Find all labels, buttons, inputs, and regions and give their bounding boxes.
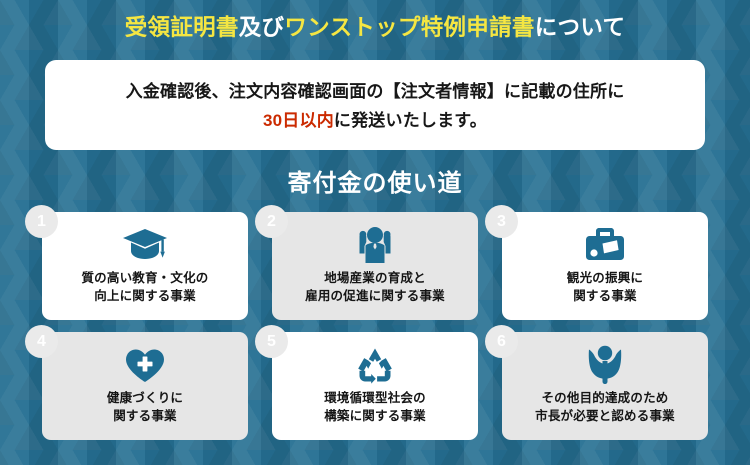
card-label-line-2: 市長が必要と認める事業 [535, 408, 675, 426]
page-title: 受領証明書及びワンストップ特例申請書について [0, 13, 750, 43]
recycle-icon [354, 344, 396, 386]
card-number-badge: 6 [485, 325, 518, 358]
graduation-cap-icon [122, 224, 168, 266]
card-label-line-2: 関する事業 [107, 408, 183, 426]
card-label: 環境循環型社会の 構築に関する事業 [324, 390, 426, 425]
suitcase-icon [583, 224, 627, 266]
card-label: 健康づくりに 関する事業 [107, 390, 183, 425]
card-number-badge: 3 [485, 205, 518, 238]
card-label-line-1: 環境循環型社会の [324, 390, 426, 408]
notice-line-1: 入金確認後、注文内容確認画面の【注文者情報】に記載の住所に [45, 77, 705, 106]
notice-highlight-deadline: 30日以内 [263, 111, 334, 130]
card-number-badge: 2 [255, 205, 288, 238]
card-label-line-2: 関する事業 [567, 288, 643, 306]
notice-line-2: 30日以内に発送いたします。 [45, 106, 705, 135]
usage-card-5[interactable]: 5 環境循環型社会の 構築に関する事業 [272, 332, 478, 440]
card-label-line-2: 雇用の促進に関する事業 [305, 288, 445, 306]
page-title-part-3: ワンストップ特例申請書 [284, 15, 534, 40]
person-growth-icon [586, 344, 624, 386]
usage-card-3[interactable]: 3 観光の振興に 関する事業 [502, 212, 708, 320]
card-label: 観光の振興に 関する事業 [567, 270, 643, 305]
page-title-part-4: について [535, 15, 626, 40]
page-title-part-2: 及び [239, 15, 285, 40]
notice-line-2-rest: に発送いたします。 [334, 111, 487, 130]
person-raising-arms-icon [352, 224, 398, 266]
card-label: その他目的達成のため 市長が必要と認める事業 [535, 390, 675, 425]
card-label-line-1: 観光の振興に [567, 270, 643, 288]
card-label-line-1: 健康づくりに [107, 390, 183, 408]
usage-card-1[interactable]: 1 質の高い教育・文化の 向上に関する事業 [42, 212, 248, 320]
infographic-page: 受領証明書及びワンストップ特例申請書について 入金確認後、注文内容確認画面の【注… [0, 0, 750, 465]
card-label: 地場産業の育成と 雇用の促進に関する事業 [305, 270, 445, 305]
usage-card-2[interactable]: 2 地場産業の育成と 雇用の促進に関する事業 [272, 212, 478, 320]
card-label-line-1: 質の高い教育・文化の [81, 270, 208, 288]
notice-box: 入金確認後、注文内容確認画面の【注文者情報】に記載の住所に 30日以内に発送いた… [45, 60, 705, 150]
card-label-line-2: 向上に関する事業 [81, 288, 208, 306]
card-label-line-1: 地場産業の育成と [305, 270, 445, 288]
usage-cards-grid: 1 質の高い教育・文化の 向上に関する事業 2 [42, 212, 708, 440]
card-number-badge: 5 [255, 325, 288, 358]
card-label-line-1: その他目的達成のため [535, 390, 675, 408]
card-number-badge: 4 [25, 325, 58, 358]
usage-card-4[interactable]: 4 健康づくりに 関する事業 [42, 332, 248, 440]
page-title-part-1: 受領証明書 [125, 15, 239, 40]
usage-card-6[interactable]: 6 その他目的達成のため 市長が必要と認める事業 [502, 332, 708, 440]
card-label: 質の高い教育・文化の 向上に関する事業 [81, 270, 208, 305]
card-label-line-2: 構築に関する事業 [324, 408, 426, 426]
section-heading: 寄付金の使い道 [0, 163, 750, 198]
heart-plus-icon [123, 344, 167, 386]
card-number-badge: 1 [25, 205, 58, 238]
